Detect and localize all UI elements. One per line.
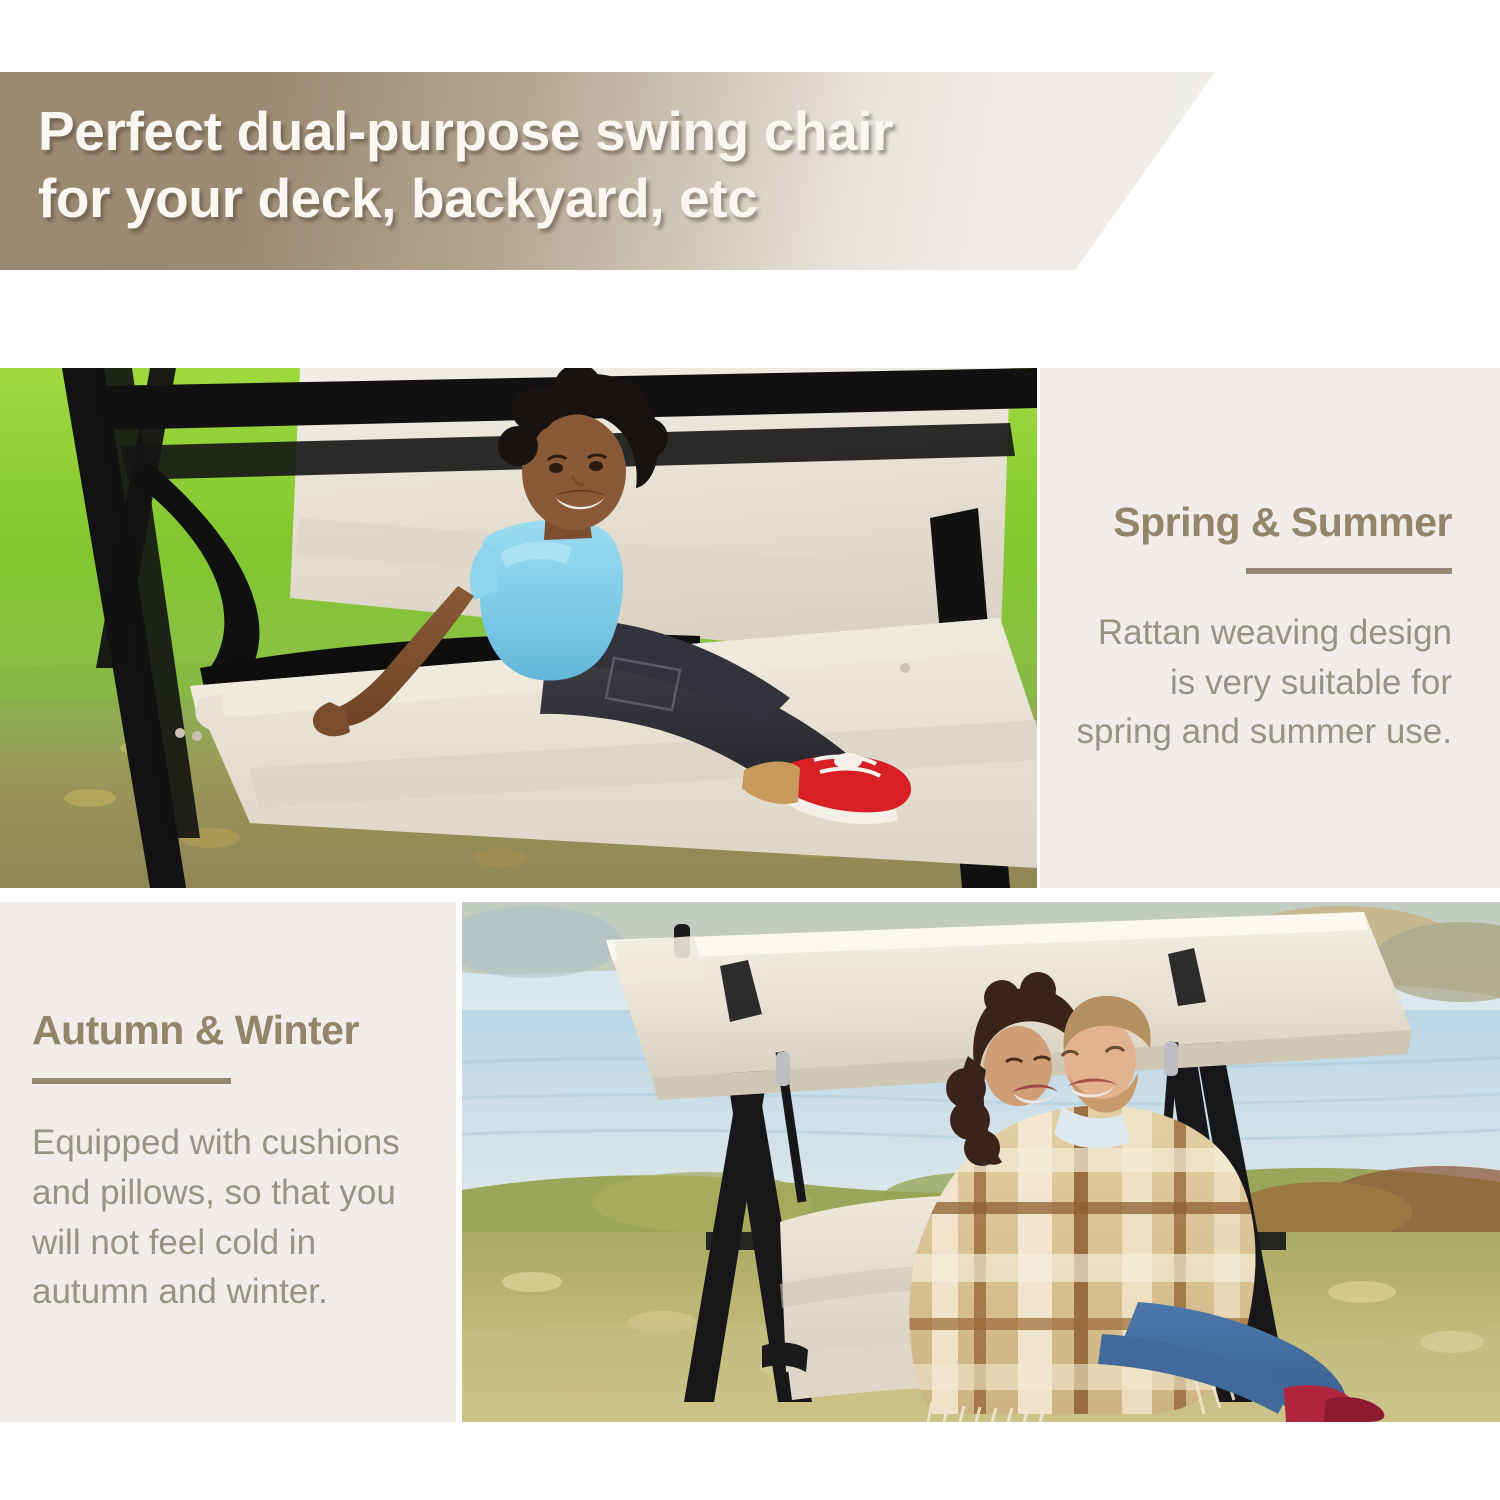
header-banner: Perfect dual-purpose swing chair for you… [0, 72, 1215, 270]
photo-couple-on-canopy-swing-artwork [462, 902, 1500, 1422]
spring-summer-text-panel: Spring & Summer Rattan weaving design is… [1040, 368, 1500, 888]
autumn-winter-body: Equipped with cushions and pillows, so t… [32, 1118, 400, 1317]
spring-summer-divider [1246, 568, 1452, 574]
autumn-winter-heading: Autumn & Winter [32, 1007, 359, 1054]
photo-child-on-swing [0, 368, 1037, 888]
banner-headline: Perfect dual-purpose swing chair for you… [38, 98, 1118, 232]
photo-couple-on-canopy-swing [462, 902, 1500, 1422]
autumn-winter-text-panel: Autumn & Winter Equipped with cushions a… [0, 902, 456, 1422]
photo-child-on-swing-artwork [0, 368, 1037, 888]
section-autumn-winter: Autumn & Winter Equipped with cushions a… [0, 902, 1500, 1422]
spring-summer-body: Rattan weaving design is very suitable f… [1077, 608, 1452, 757]
section-spring-summer: Spring & Summer Rattan weaving design is… [0, 368, 1500, 888]
spring-summer-heading: Spring & Summer [1113, 499, 1452, 546]
autumn-winter-divider [32, 1078, 231, 1084]
